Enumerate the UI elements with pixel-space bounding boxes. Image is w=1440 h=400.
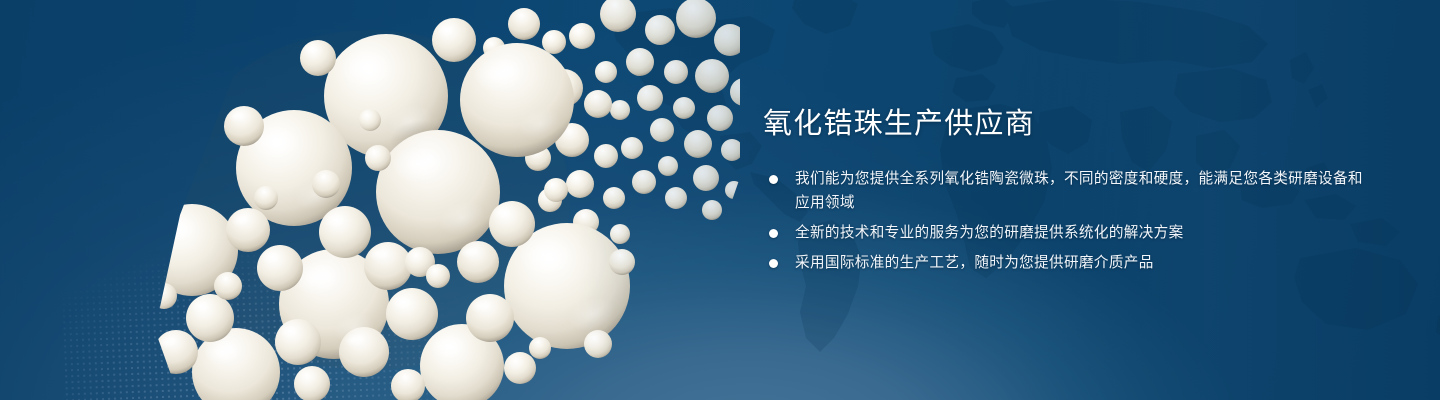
- list-item-label: 全新的技术和专业的服务为您的研磨提供系统化的解决方案: [795, 221, 1363, 245]
- list-item: 我们能为您提供全系列氧化锆陶瓷微珠，不同的密度和硬度，能满足您各类研磨设备和应用…: [763, 167, 1363, 215]
- list-item: 全新的技术和专业的服务为您的研磨提供系统化的解决方案: [763, 221, 1363, 245]
- hero-banner: 氧化锆珠生产供应商 我们能为您提供全系列氧化锆陶瓷微珠，不同的密度和硬度，能满足…: [0, 0, 1440, 400]
- list-item: 采用国际标准的生产工艺，随时为您提供研磨介质产品: [763, 251, 1363, 275]
- banner-copy: 氧化锆珠生产供应商 我们能为您提供全系列氧化锆陶瓷微珠，不同的密度和硬度，能满足…: [763, 104, 1363, 275]
- list-item-label: 采用国际标准的生产工艺，随时为您提供研磨介质产品: [795, 251, 1363, 275]
- list-item-label: 我们能为您提供全系列氧化锆陶瓷微珠，不同的密度和硬度，能满足您各类研磨设备和应用…: [795, 167, 1363, 215]
- page-title: 氧化锆珠生产供应商: [763, 104, 1363, 144]
- feature-list: 我们能为您提供全系列氧化锆陶瓷微珠，不同的密度和硬度，能满足您各类研磨设备和应用…: [763, 167, 1363, 275]
- circle-bullet-icon: [769, 175, 778, 184]
- zirconia-beads-photo: [120, 0, 740, 400]
- circle-bullet-icon: [769, 259, 778, 268]
- circle-bullet-icon: [769, 229, 778, 238]
